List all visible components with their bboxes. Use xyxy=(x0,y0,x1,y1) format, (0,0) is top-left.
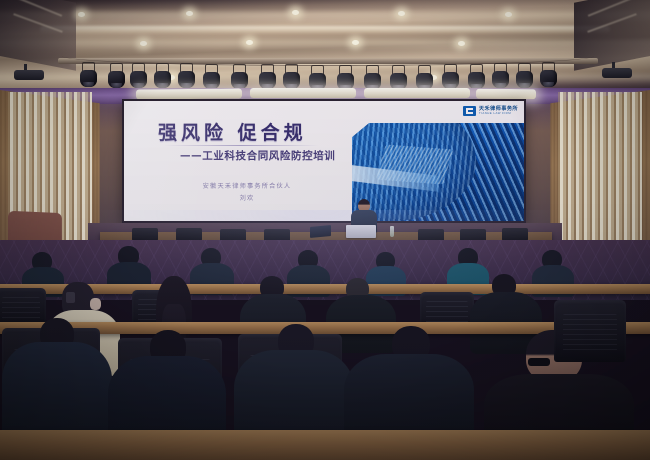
presenter-laptop xyxy=(346,225,376,238)
tianhe-bracket-logo-icon xyxy=(463,106,476,116)
wall-panel-light xyxy=(364,88,470,98)
projection-screen: 天禾律师事务所 TIANHE LAW FIRM 强风险 促合规 ——工业科技合同… xyxy=(122,99,526,223)
slide-title: 强风险 促合规 xyxy=(158,118,307,145)
slide-divider xyxy=(164,145,319,146)
foreground-desk xyxy=(0,430,650,460)
audience-chair xyxy=(554,300,626,362)
stage-light xyxy=(80,62,97,88)
ceiling-projector-right xyxy=(602,62,632,78)
wall-panel-light xyxy=(476,89,536,100)
water-bottle xyxy=(390,226,394,237)
hair-clip xyxy=(66,292,75,303)
slide-credit: 安徽天禾律师事务所合伙人 刘欢 xyxy=(182,181,312,205)
wall-panel-light xyxy=(136,88,242,99)
wall-panel-light xyxy=(250,88,356,98)
firm-logo-en: TIANHE LAW FIRM xyxy=(479,112,518,115)
face-mask xyxy=(90,298,101,310)
eyeglasses-icon xyxy=(528,358,550,366)
presentation-slide: 天禾律师事务所 TIANHE LAW FIRM 强风险 促合规 ——工业科技合同… xyxy=(124,101,524,221)
presenter-side-laptop xyxy=(310,225,331,238)
firm-logo: 天禾律师事务所 TIANHE LAW FIRM xyxy=(463,106,518,116)
stage-light xyxy=(540,62,557,88)
credit-firm: 安徽天禾律师事务所合伙人 xyxy=(203,183,292,190)
slide-subtitle: ——工业科技合同风险防控培训 xyxy=(180,148,335,163)
ceiling-camera-left xyxy=(14,64,44,80)
credit-name: 刘欢 xyxy=(240,195,255,202)
lecture-hall-photo: 天禾律师事务所 TIANHE LAW FIRM 强风险 促合规 ——工业科技合同… xyxy=(0,0,650,460)
audience-desk-back xyxy=(0,284,650,294)
